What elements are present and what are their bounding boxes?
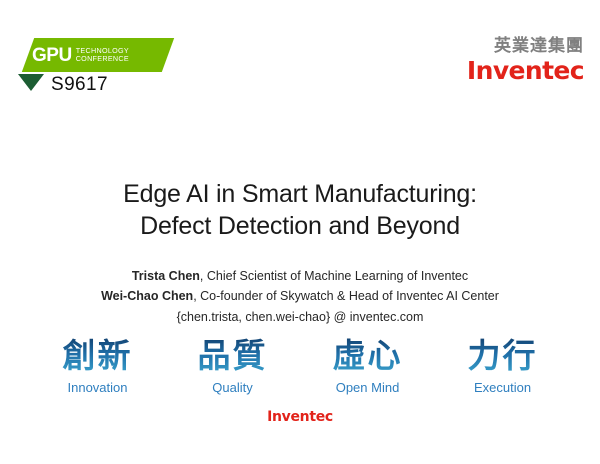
core-value-label-4: Execution [439, 379, 567, 397]
presentation-slide: GPU TECHNOLOGY CONFERENCE S9617 英業達集團 In… [0, 0, 600, 464]
gtc-subtitle-line2: CONFERENCE [76, 55, 129, 63]
core-values-row: 創新 Innovation 品質 Quality 虛心 Open Mind 力行… [30, 336, 570, 397]
inventec-corporate-logo: 英業達集團 Inventec [467, 36, 584, 84]
title-line-1: Edge AI in Smart Manufacturing: [0, 178, 600, 210]
core-value-open-mind: 虛心 Open Mind [304, 336, 432, 397]
core-value-execution: 力行 Execution [439, 336, 567, 397]
core-value-chinese-4: 力行 [439, 336, 567, 376]
author-line-2: Wei-Chao Chen, Co-founder of Skywatch & … [0, 286, 600, 306]
triangle-down-icon [18, 74, 44, 91]
gtc-badge: GPU TECHNOLOGY CONFERENCE S9617 [18, 38, 218, 108]
session-id: S9617 [51, 74, 108, 96]
core-value-label-3: Open Mind [304, 379, 432, 397]
inventec-wordmark: Inventec [467, 57, 584, 84]
footer-logo-text: Inventec [267, 409, 333, 425]
page-title: Edge AI in Smart Manufacturing: Defect D… [0, 178, 600, 242]
gtc-banner-text: GPU TECHNOLOGY CONFERENCE [32, 38, 172, 72]
author-affiliation-2: , Co-founder of Skywatch & Head of Inven… [193, 289, 499, 303]
core-value-label-1: Innovation [34, 379, 162, 397]
core-value-chinese-2: 品質 [169, 336, 297, 376]
author-name-1: Trista Chen [132, 269, 200, 283]
author-affiliation-1: , Chief Scientist of Machine Learning of… [200, 269, 468, 283]
core-value-innovation: 創新 Innovation [34, 336, 162, 397]
author-name-2: Wei-Chao Chen [101, 289, 193, 303]
core-value-label-2: Quality [169, 379, 297, 397]
authors-block: Trista Chen, Chief Scientist of Machine … [0, 266, 600, 327]
core-value-chinese-1: 創新 [34, 336, 162, 376]
footer-inventec-logo: Inventec [0, 408, 600, 426]
core-value-quality: 品質 Quality [169, 336, 297, 397]
core-value-chinese-3: 虛心 [304, 336, 432, 376]
gtc-subtitle: TECHNOLOGY CONFERENCE [76, 47, 129, 64]
inventec-chinese-name: 英業達集團 [467, 36, 584, 56]
gtc-gpu-label: GPU [32, 46, 72, 65]
contact-email: {chen.trista, chen.wei-chao} @ inventec.… [0, 307, 600, 327]
author-line-1: Trista Chen, Chief Scientist of Machine … [0, 266, 600, 286]
title-line-2: Defect Detection and Beyond [0, 210, 600, 242]
